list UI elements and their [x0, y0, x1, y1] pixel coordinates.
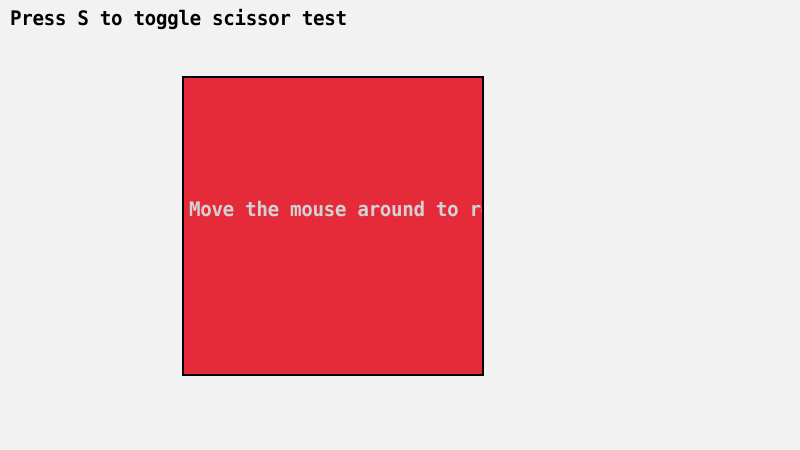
scissor-rectangle[interactable]: Move the mouse around to reveal this tex… [182, 76, 484, 376]
scissor-toggle-hint-text: Press S to toggle scissor test [10, 8, 347, 28]
scissor-clipped-message: Move the mouse around to reveal this tex… [189, 199, 484, 219]
app-canvas: Press S to toggle scissor test Move the … [0, 0, 800, 450]
